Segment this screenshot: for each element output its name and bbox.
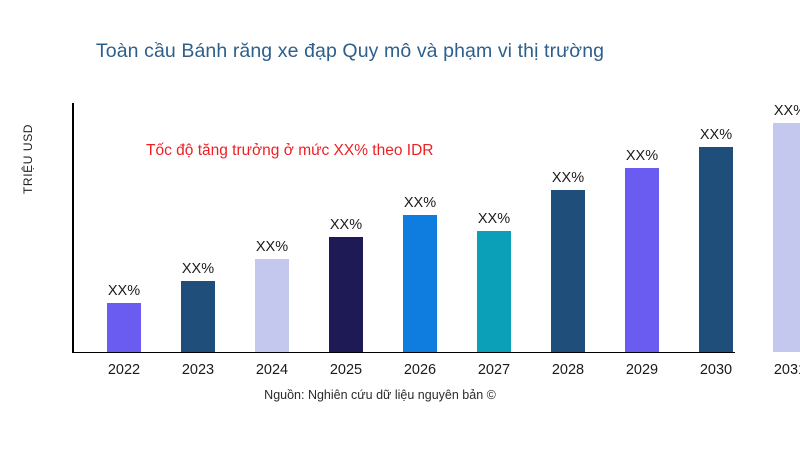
bar-2023[interactable]	[181, 281, 215, 351]
bar-2025[interactable]	[329, 237, 363, 352]
source-caption: Nguồn: Nghiên cứu dữ liệu nguyên bản ©	[0, 388, 760, 402]
x-tick-label-2026: 2026	[404, 362, 436, 378]
bar-group-2029: XX%2029	[625, 0, 659, 450]
bar-group-2024: XX%2024	[255, 0, 289, 450]
bar-group-2025: XX%2025	[329, 0, 363, 450]
bar-2026[interactable]	[403, 215, 437, 352]
x-tick-label-2028: 2028	[552, 362, 584, 378]
x-tick-label-2029: 2029	[626, 362, 658, 378]
bar-group-2023: XX%2023	[181, 0, 215, 450]
bar-value-label-2028: XX%	[552, 170, 584, 186]
bar-2027[interactable]	[477, 231, 511, 351]
bar-value-label-2027: XX%	[478, 211, 510, 227]
bar-value-label-2024: XX%	[256, 239, 288, 255]
x-tick-label-2027: 2027	[478, 362, 510, 378]
x-tick-label-2030: 2030	[700, 362, 732, 378]
bar-group-2030: XX%2030	[699, 0, 733, 450]
bar-value-label-2031: XX%	[774, 103, 800, 119]
bar-value-label-2026: XX%	[404, 195, 436, 211]
x-tick-label-2025: 2025	[330, 362, 362, 378]
x-tick-label-2024: 2024	[256, 362, 288, 378]
bar-group-2026: XX%2026	[403, 0, 437, 450]
bar-group-2028: XX%2028	[551, 0, 585, 450]
plot-area: XX%2022XX%2023XX%2024XX%2025XX%2026XX%20…	[0, 0, 800, 450]
bar-value-label-2025: XX%	[330, 217, 362, 233]
bar-group-2027: XX%2027	[477, 0, 511, 450]
x-tick-label-2022: 2022	[108, 362, 140, 378]
bar-value-label-2030: XX%	[700, 127, 732, 143]
bar-value-label-2029: XX%	[626, 148, 658, 164]
bar-2024[interactable]	[255, 259, 289, 352]
bar-2030[interactable]	[699, 147, 733, 352]
bar-2022[interactable]	[107, 303, 141, 351]
bar-group-2031: XX%2031	[773, 0, 800, 450]
bar-group-2022: XX%2022	[107, 0, 141, 450]
x-tick-label-2031: 2031	[774, 362, 800, 378]
bar-value-label-2023: XX%	[182, 261, 214, 277]
bar-value-label-2022: XX%	[108, 283, 140, 299]
bar-2028[interactable]	[551, 190, 585, 352]
chart-container: Toàn cầu Bánh răng xe đạp Quy mô và phạm…	[0, 0, 800, 450]
x-tick-label-2023: 2023	[182, 362, 214, 378]
bar-2029[interactable]	[625, 168, 659, 351]
bar-2031[interactable]	[773, 123, 800, 352]
